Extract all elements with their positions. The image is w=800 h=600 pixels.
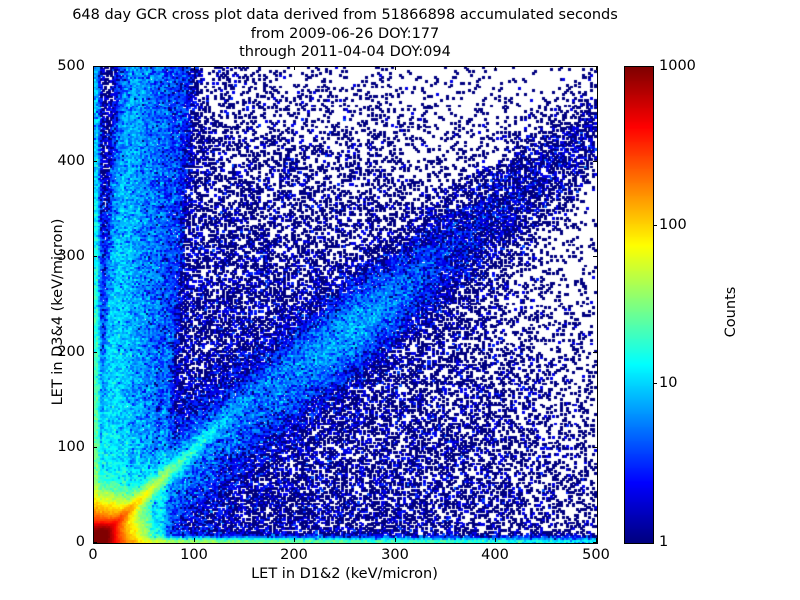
x-tick-mark: [194, 538, 195, 542]
colorbar-tick-label: 10: [659, 375, 677, 391]
x-tick-mark: [495, 538, 496, 542]
colorbar-tick-label: 1000: [659, 58, 696, 74]
colorbar-tick-label: 1: [659, 534, 668, 550]
chart-title-line-2: from 2009-06-26 DOY:177: [0, 25, 690, 44]
x-tick-mark: [395, 538, 396, 542]
colorbar-tick-mark: [653, 225, 657, 226]
y-tick-mark-right: [593, 352, 597, 353]
x-axis-label: LET in D1&2 (keV/micron): [93, 566, 596, 582]
y-axis-label: LET in D3&4 (keV/micron): [50, 102, 66, 522]
scatter-heatmap-plot: [94, 67, 597, 543]
y-tick-mark: [93, 161, 97, 162]
colorbar: [624, 66, 654, 544]
y-tick-label: 0: [35, 534, 85, 550]
x-tick-label: 200: [280, 547, 308, 563]
x-tick-mark-top: [294, 66, 295, 70]
chart-title: 648 day GCR cross plot data derived from…: [0, 6, 690, 62]
x-tick-label: 400: [481, 547, 509, 563]
figure-canvas: 648 day GCR cross plot data derived from…: [0, 0, 800, 600]
plot-axes: [93, 66, 598, 544]
colorbar-tick-label: 100: [659, 217, 687, 233]
x-tick-mark-top: [395, 66, 396, 70]
x-tick-label: 0: [88, 547, 97, 563]
x-tick-label: 300: [381, 547, 409, 563]
x-tick-label: 100: [180, 547, 208, 563]
y-tick-mark-right: [593, 66, 597, 67]
x-tick-label: 500: [582, 547, 610, 563]
y-tick-mark-right: [593, 256, 597, 257]
y-tick-mark: [93, 352, 97, 353]
colorbar-gradient: [625, 67, 653, 543]
y-tick-label: 500: [35, 58, 85, 74]
colorbar-tick-mark: [653, 383, 657, 384]
x-tick-mark-top: [495, 66, 496, 70]
y-tick-mark-right: [593, 542, 597, 543]
y-tick-mark-right: [593, 161, 597, 162]
y-tick-mark: [93, 256, 97, 257]
colorbar-label: Counts: [723, 182, 739, 442]
chart-title-line-3: through 2011-04-04 DOY:094: [0, 43, 690, 62]
x-tick-mark: [294, 538, 295, 542]
y-tick-mark: [93, 447, 97, 448]
chart-title-line-1: 648 day GCR cross plot data derived from…: [0, 6, 690, 25]
y-tick-mark: [93, 542, 97, 543]
y-tick-mark: [93, 66, 97, 67]
x-tick-mark-top: [194, 66, 195, 70]
y-tick-mark-right: [593, 447, 597, 448]
